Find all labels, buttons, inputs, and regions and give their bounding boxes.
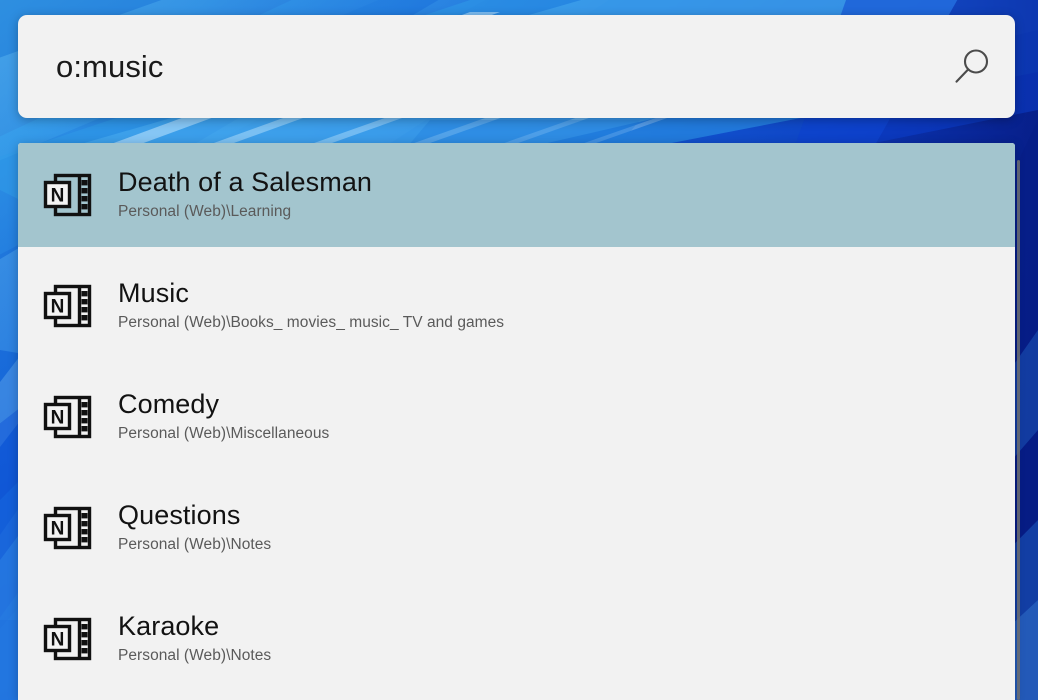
result-subtitle: Personal (Web)\Books_ movies_ music_ TV … xyxy=(118,311,504,334)
result-title: Questions xyxy=(118,500,271,530)
onenote-icon: N xyxy=(40,169,96,221)
result-row[interactable]: NComedyPersonal (Web)\Miscellaneous xyxy=(18,365,1015,469)
result-text: ComedyPersonal (Web)\Miscellaneous xyxy=(118,389,329,445)
result-text: KaraokePersonal (Web)\Notes xyxy=(118,611,271,667)
result-title: Death of a Salesman xyxy=(118,167,372,197)
onenote-icon: N xyxy=(40,613,96,665)
search-results-panel[interactable]: NDeath of a SalesmanPersonal (Web)\Learn… xyxy=(18,143,1015,700)
result-text: MusicPersonal (Web)\Books_ movies_ music… xyxy=(118,278,504,334)
result-row[interactable]: NKaraokePersonal (Web)\Notes xyxy=(18,587,1015,691)
result-text: QuestionsPersonal (Web)\Notes xyxy=(118,500,271,556)
result-row[interactable]: NDeath of a SalesmanPersonal (Web)\Learn… xyxy=(18,143,1015,247)
result-title: Comedy xyxy=(118,389,329,419)
result-row[interactable]: NQuestionsPersonal (Web)\Notes xyxy=(18,476,1015,580)
svg-text:N: N xyxy=(51,297,65,318)
svg-text:N: N xyxy=(51,408,65,429)
svg-text:N: N xyxy=(51,186,65,207)
result-subtitle: Personal (Web)\Notes xyxy=(118,644,271,667)
result-subtitle: Personal (Web)\Miscellaneous xyxy=(118,422,329,445)
result-subtitle: Personal (Web)\Learning xyxy=(118,200,372,223)
svg-text:N: N xyxy=(51,519,65,540)
svg-text:N: N xyxy=(51,630,65,651)
onenote-icon: N xyxy=(40,391,96,443)
result-title: Music xyxy=(118,278,504,308)
result-text: Death of a SalesmanPersonal (Web)\Learni… xyxy=(118,167,372,223)
result-title: Karaoke xyxy=(118,611,271,641)
results-scrollbar[interactable] xyxy=(1017,160,1020,700)
result-row[interactable]: NMusicPersonal (Web)\Books_ movies_ musi… xyxy=(18,254,1015,358)
result-subtitle: Personal (Web)\Notes xyxy=(118,533,271,556)
search-icon[interactable] xyxy=(929,46,1015,88)
search-input[interactable]: o:music xyxy=(18,51,929,82)
onenote-icon: N xyxy=(40,280,96,332)
results-list: NDeath of a SalesmanPersonal (Web)\Learn… xyxy=(18,143,1015,691)
onenote-icon: N xyxy=(40,502,96,554)
search-box[interactable]: o:music xyxy=(18,15,1015,118)
